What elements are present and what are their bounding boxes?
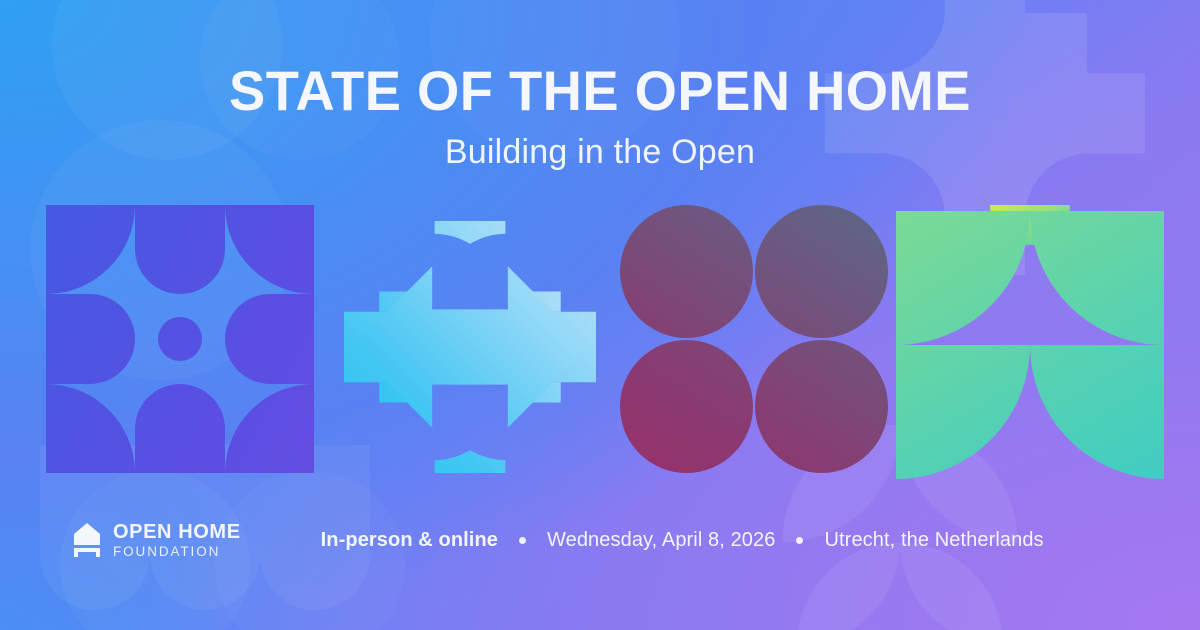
event-location: Utrecht, the Netherlands: [824, 529, 1043, 552]
motif-cell: [225, 384, 314, 473]
leaves-motif: [896, 205, 1164, 473]
page-subtitle: Building in the Open: [0, 133, 1200, 172]
motif-circle: [755, 340, 888, 473]
motif-leaf: [896, 211, 1030, 345]
event-meta: In-person & online Wednesday, April 8, 2…: [321, 529, 1044, 552]
motif-leaf: [1030, 345, 1164, 479]
motif-band: [0, 205, 1200, 473]
page-title: STATE OF THE OPEN HOME: [18, 62, 1182, 119]
event-date: Wednesday, April 8, 2026: [547, 529, 775, 552]
motif-leaf: [896, 345, 1030, 479]
four-circles-motif: [620, 205, 888, 473]
motif-cell: [135, 205, 224, 294]
motif-circle: [755, 205, 888, 338]
motif-cell: [135, 294, 224, 383]
motif-circle: [620, 205, 753, 338]
brand-name-secondary: FOUNDATION: [113, 545, 241, 559]
open-home-house-icon: [72, 522, 102, 558]
event-format: In-person & online: [321, 529, 498, 552]
motif-cell: [225, 205, 314, 294]
motif-cell: [135, 384, 224, 473]
poster-canvas: STATE OF THE OPEN HOME Building in the O…: [0, 0, 1200, 630]
motif-leaf: [1030, 211, 1164, 345]
headline-block: STATE OF THE OPEN HOME Building in the O…: [0, 62, 1200, 172]
motif-cell: [46, 294, 135, 383]
motif-cell: [225, 294, 314, 383]
brand-text: OPEN HOME FOUNDATION: [113, 522, 241, 559]
brand-name-primary: OPEN HOME: [113, 522, 241, 542]
brand-lockup[interactable]: OPEN HOME FOUNDATION: [72, 522, 241, 559]
meta-separator-dot: [796, 537, 803, 544]
starburst-motif: [344, 205, 596, 473]
footer-bar: OPEN HOME FOUNDATION In-person & online …: [72, 516, 1140, 564]
motif-cell: [46, 384, 135, 473]
motif-circle: [620, 340, 753, 473]
meta-separator-dot: [519, 537, 526, 544]
motif-cell: [46, 205, 135, 294]
circle-grid-motif: [46, 205, 314, 473]
